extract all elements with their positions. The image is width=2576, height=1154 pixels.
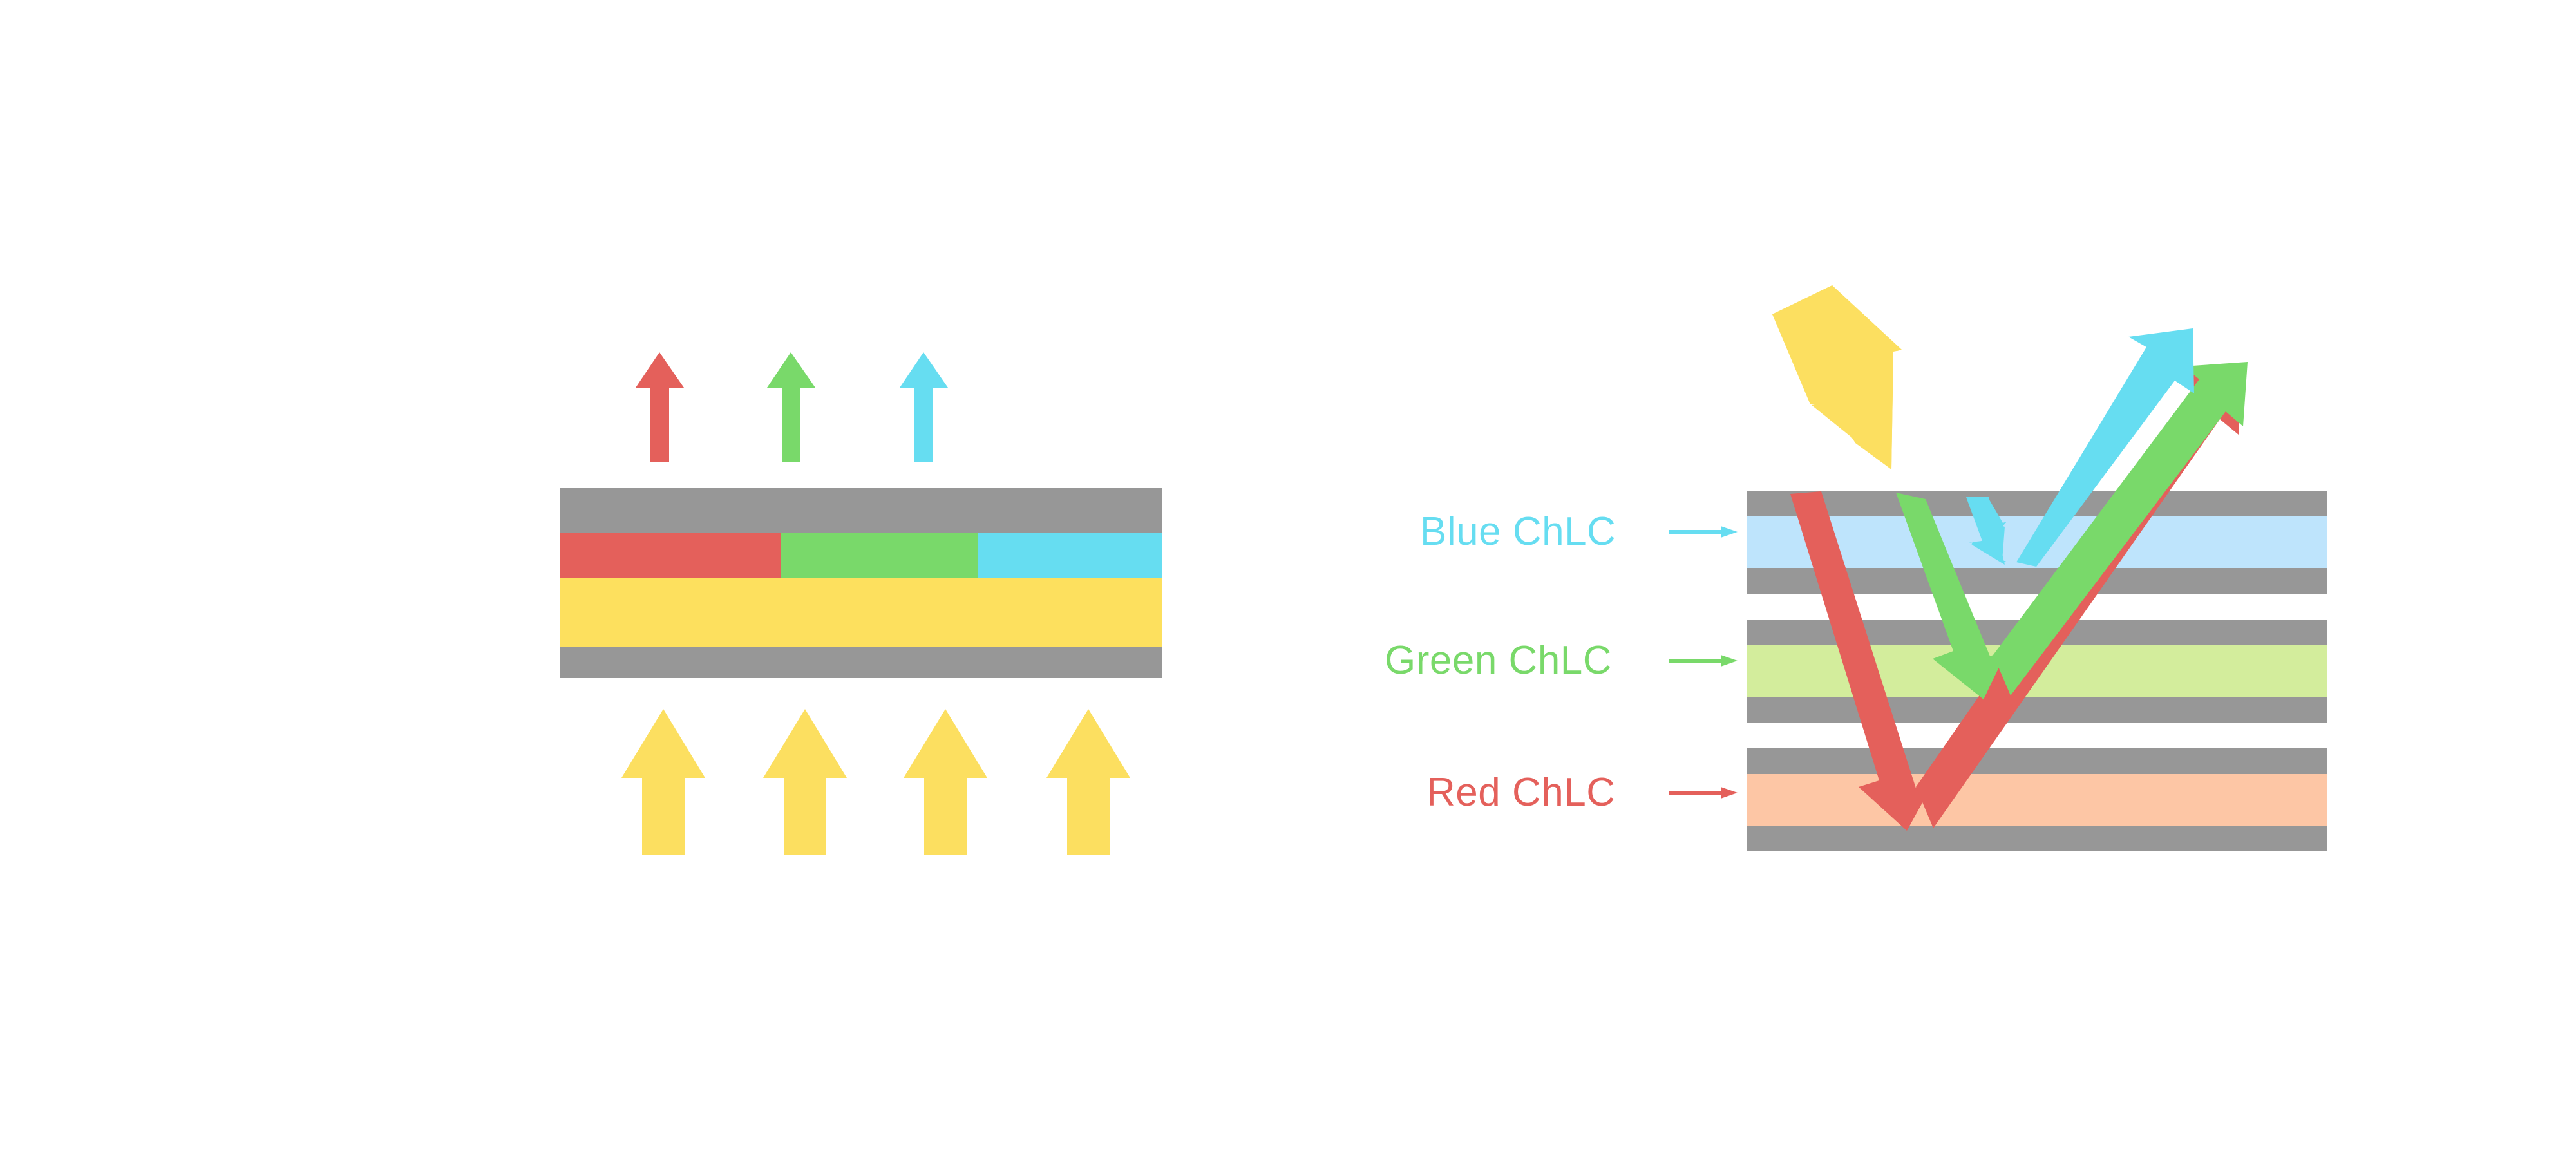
backlight-ray-4 bbox=[1046, 709, 1130, 855]
red-chlc-top-electrode bbox=[1747, 748, 2327, 774]
top-electrode-layer bbox=[560, 488, 1162, 533]
diagram-canvas bbox=[0, 0, 2576, 1154]
green-chlc-bottom-electrode bbox=[1747, 697, 2327, 723]
blue-chlc-top-electrode bbox=[1747, 491, 2327, 516]
blue-chlc-label: Blue ChLC bbox=[1420, 509, 1616, 554]
backlight-layer bbox=[560, 578, 1162, 647]
backlight-rays-group bbox=[621, 709, 1130, 855]
green-label-arrow-icon bbox=[1669, 655, 1738, 667]
green-filter-segment bbox=[781, 533, 978, 578]
cyan-emitted-ray bbox=[900, 352, 948, 462]
bottom-electrode-layer bbox=[560, 647, 1162, 678]
left-panel bbox=[560, 352, 1162, 855]
green-chlc-label: Green ChLC bbox=[1385, 638, 1612, 683]
green-emitted-ray bbox=[767, 352, 815, 462]
red-chlc-layer bbox=[1747, 774, 2327, 826]
blue-label-arrow-icon bbox=[1669, 526, 1738, 538]
diagram-stage: Blue ChLC Green ChLC Red ChLC bbox=[0, 0, 2576, 1154]
left-stack-layers bbox=[560, 488, 1162, 678]
emitted-rays-group bbox=[636, 352, 948, 462]
backlight-ray-3 bbox=[904, 709, 987, 855]
red-filter-segment bbox=[560, 533, 781, 578]
red-emitted-ray bbox=[636, 352, 684, 462]
red-chlc-label: Red ChLC bbox=[1426, 770, 1615, 815]
incident-white-light-arrow-body bbox=[1772, 285, 1893, 469]
label-leaders bbox=[1669, 526, 1738, 799]
red-label-arrow-icon bbox=[1669, 787, 1738, 799]
backlight-ray-2 bbox=[763, 709, 847, 855]
red-chlc-bottom-electrode bbox=[1747, 826, 2327, 851]
right-panel bbox=[1669, 285, 2327, 851]
blue-filter-segment bbox=[978, 533, 1162, 578]
backlight-ray-1 bbox=[621, 709, 705, 855]
